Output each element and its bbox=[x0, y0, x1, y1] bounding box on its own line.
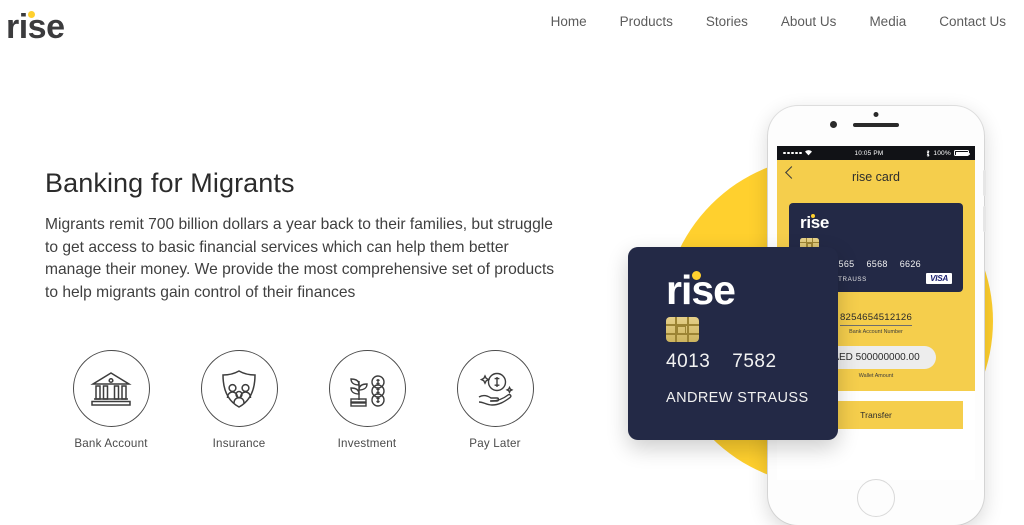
plant-coins-icon bbox=[345, 368, 389, 410]
hand-dollar-icon bbox=[473, 369, 517, 409]
bank-account-number: 8254654512126 bbox=[840, 312, 912, 326]
status-time: 10:05 PM bbox=[812, 150, 927, 157]
hero-visual: 10:05 PM 100% rise card bbox=[600, 80, 1024, 525]
nav-item-stories[interactable]: Stories bbox=[706, 13, 748, 31]
nav-item-products[interactable]: Products bbox=[620, 13, 673, 31]
logo-dot-icon bbox=[28, 11, 35, 18]
status-left bbox=[783, 150, 812, 156]
big-card-logo-dot-icon bbox=[692, 271, 701, 280]
feature-investment[interactable]: Investment bbox=[318, 350, 416, 450]
phone-home-button[interactable] bbox=[857, 479, 895, 517]
site-header: rise Home Products Stories About Us Medi… bbox=[0, 0, 1024, 58]
feature-label: Pay Later bbox=[446, 437, 544, 450]
card-number-group: 6626 bbox=[900, 259, 921, 269]
nav-item-home[interactable]: Home bbox=[551, 13, 587, 31]
nav-item-contact-us[interactable]: Contact Us bbox=[939, 13, 1006, 31]
big-card-number-group: 7582 bbox=[732, 351, 776, 373]
nav-item-about-us[interactable]: About Us bbox=[781, 13, 837, 31]
shield-family-icon bbox=[219, 368, 259, 410]
page-title: Banking for Migrants bbox=[45, 166, 575, 200]
bank-building-icon bbox=[89, 369, 133, 409]
big-card-number-group: 4013 bbox=[666, 351, 710, 373]
emv-chip-icon bbox=[666, 317, 699, 342]
phone-status-bar: 10:05 PM 100% bbox=[777, 146, 975, 160]
feature-icon-ring bbox=[73, 350, 150, 427]
app-title: rise card bbox=[852, 170, 900, 184]
landing-page: rise Home Products Stories About Us Medi… bbox=[0, 0, 1024, 525]
status-right: 100% bbox=[926, 150, 969, 157]
bluetooth-icon bbox=[926, 150, 930, 157]
chevron-left-icon[interactable] bbox=[785, 166, 798, 179]
feature-pay-later[interactable]: Pay Later bbox=[446, 350, 544, 450]
logo-text: rise bbox=[6, 8, 65, 46]
feature-icon-ring bbox=[329, 350, 406, 427]
feature-icon-ring bbox=[201, 350, 278, 427]
feature-label: Bank Account bbox=[62, 437, 160, 450]
app-header: rise card bbox=[777, 160, 975, 194]
big-card-number: 4013 7582 bbox=[666, 351, 838, 373]
main-nav: Home Products Stories About Us Media Con… bbox=[551, 13, 1006, 31]
rise-logo[interactable]: rise bbox=[6, 6, 65, 48]
phone-sensor-icon bbox=[874, 112, 879, 117]
phone-camera-icon bbox=[830, 121, 837, 128]
phone-speaker-icon bbox=[853, 123, 899, 127]
battery-icon bbox=[954, 150, 969, 157]
feature-label: Insurance bbox=[190, 437, 288, 450]
card-logo: rise bbox=[800, 213, 829, 232]
hero-paragraph: Migrants remit 700 billion dollars a yea… bbox=[45, 214, 565, 304]
big-card-logo: rise bbox=[666, 269, 735, 311]
wifi-icon bbox=[805, 150, 812, 156]
feature-bank-account[interactable]: Bank Account bbox=[62, 350, 160, 450]
feature-label: Investment bbox=[318, 437, 416, 450]
card-number-group: 6568 bbox=[866, 259, 887, 269]
feature-icon-ring bbox=[457, 350, 534, 427]
visa-logo-icon: VISA bbox=[926, 273, 952, 284]
card-logo-dot-icon bbox=[811, 214, 815, 218]
hero-physical-card: rise 4013 7582 ANDREW STRAUSS bbox=[628, 247, 838, 440]
feature-insurance[interactable]: Insurance bbox=[190, 350, 288, 450]
signal-dots-icon bbox=[783, 152, 802, 155]
status-battery-percent: 100% bbox=[933, 150, 951, 157]
big-card-holder-name: ANDREW STRAUSS bbox=[666, 390, 838, 406]
nav-item-media[interactable]: Media bbox=[869, 13, 906, 31]
hero-copy: Banking for Migrants Migrants remit 700 … bbox=[45, 166, 575, 304]
feature-list: Bank Account Insurance bbox=[62, 350, 544, 450]
